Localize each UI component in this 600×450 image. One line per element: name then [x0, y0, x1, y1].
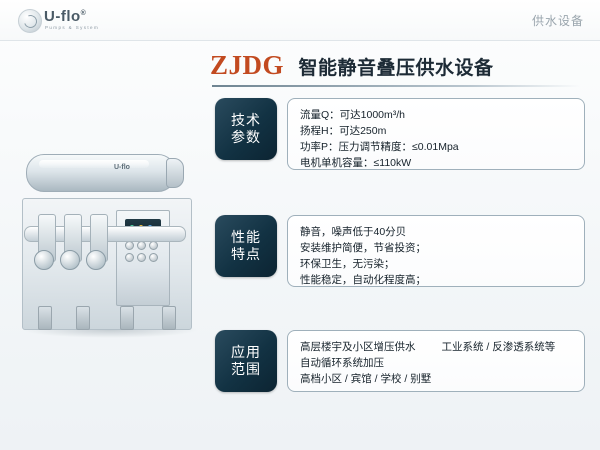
valve-icon — [60, 250, 80, 270]
header-category-label: 供水设备 — [532, 12, 584, 29]
control-cabinet — [116, 210, 170, 306]
param-line: 流量Q：可达1000m³/h — [300, 107, 574, 123]
application-line: 高档小区 / 宾馆 / 学校 / 别墅 — [300, 371, 574, 387]
feature-line: 安装维护简便，节省投资； — [300, 240, 574, 256]
badge-line-2: 范围 — [231, 361, 261, 378]
valve-icon — [86, 250, 106, 270]
panel-application-scope: 高层楼宇及小区增压供水工业系统 / 反渗透系统等 自动循环系统加压 高档小区 /… — [287, 330, 585, 392]
panel-performance-features: 静音，噪声低于40分贝 安装维护简便，节省投资； 环保卫生，无污染； 性能稳定，… — [287, 215, 585, 287]
title-underline — [212, 85, 580, 87]
feature-line: 静音，噪声低于40分贝 — [300, 224, 574, 240]
logo-mark-icon — [18, 9, 42, 33]
application-line: 自动循环系统加压 — [300, 355, 574, 371]
badge-line-2: 参数 — [231, 129, 261, 146]
brand-logo: U-flo® Pumps & System — [18, 6, 128, 36]
title-description: 智能静音叠压供水设备 — [298, 53, 493, 80]
logo-tagline: Pumps & System — [45, 25, 99, 30]
badge-line-2: 特点 — [231, 246, 261, 263]
section-technical-parameters: 技术 参数 流量Q：可达1000m³/h 扬程H：可达250m 功率P：压力调节… — [215, 98, 585, 170]
badge-line-1: 应用 — [231, 344, 261, 361]
panel-technical-parameters: 流量Q：可达1000m³/h 扬程H：可达250m 功率P：压力调节精度：≤0.… — [287, 98, 585, 170]
param-line: 功率P：压力调节精度：≤0.01Mpa — [300, 139, 574, 155]
page-title: ZJDG 智能静音叠压供水设备 — [210, 50, 590, 82]
badge-line-1: 技术 — [231, 112, 261, 129]
application-line: 高层楼宇及小区增压供水工业系统 / 反渗透系统等 — [300, 339, 574, 355]
badge-line-1: 性能 — [231, 229, 261, 246]
section-application-scope: 应用 范围 高层楼宇及小区增压供水工业系统 / 反渗透系统等 自动循环系统加压 … — [215, 330, 585, 392]
title-model-code: ZJDG — [210, 50, 284, 81]
valve-icon — [34, 250, 54, 270]
slide-root: U-flo® Pumps & System 供水设备 ZJDG 智能静音叠压供水… — [0, 0, 600, 450]
param-line: 扬程H：可达250m — [300, 123, 574, 139]
logo-wordmark: U-flo® — [44, 8, 86, 25]
logo-registered-mark: ® — [81, 10, 87, 17]
pressure-tank — [26, 154, 176, 192]
support-leg — [162, 306, 176, 330]
logo-text: U-flo — [44, 8, 81, 25]
application-line-secondary: 工业系统 / 反渗透系统等 — [442, 341, 556, 353]
support-leg — [76, 306, 90, 330]
support-leg — [120, 306, 134, 330]
control-panel-buttons — [125, 241, 161, 271]
support-leg — [38, 306, 52, 330]
badge-application-scope: 应用 范围 — [215, 330, 277, 392]
tank-brand-label: U-flo — [114, 164, 130, 171]
application-line-primary: 高层楼宇及小区增压供水 — [300, 341, 416, 353]
param-line: 电机单机容量：≤110kW — [300, 155, 574, 171]
feature-line: 性能稳定，自动化程度高； — [300, 272, 574, 288]
tank-end-cap — [166, 158, 184, 188]
badge-technical-parameters: 技术 参数 — [215, 98, 277, 160]
feature-line: 环保卫生，无污染； — [300, 256, 574, 272]
badge-performance-features: 性能 特点 — [215, 215, 277, 277]
product-image: U-flo — [16, 140, 206, 350]
section-performance-features: 性能 特点 静音，噪声低于40分贝 安装维护简便，节省投资； 环保卫生，无污染；… — [215, 215, 585, 287]
